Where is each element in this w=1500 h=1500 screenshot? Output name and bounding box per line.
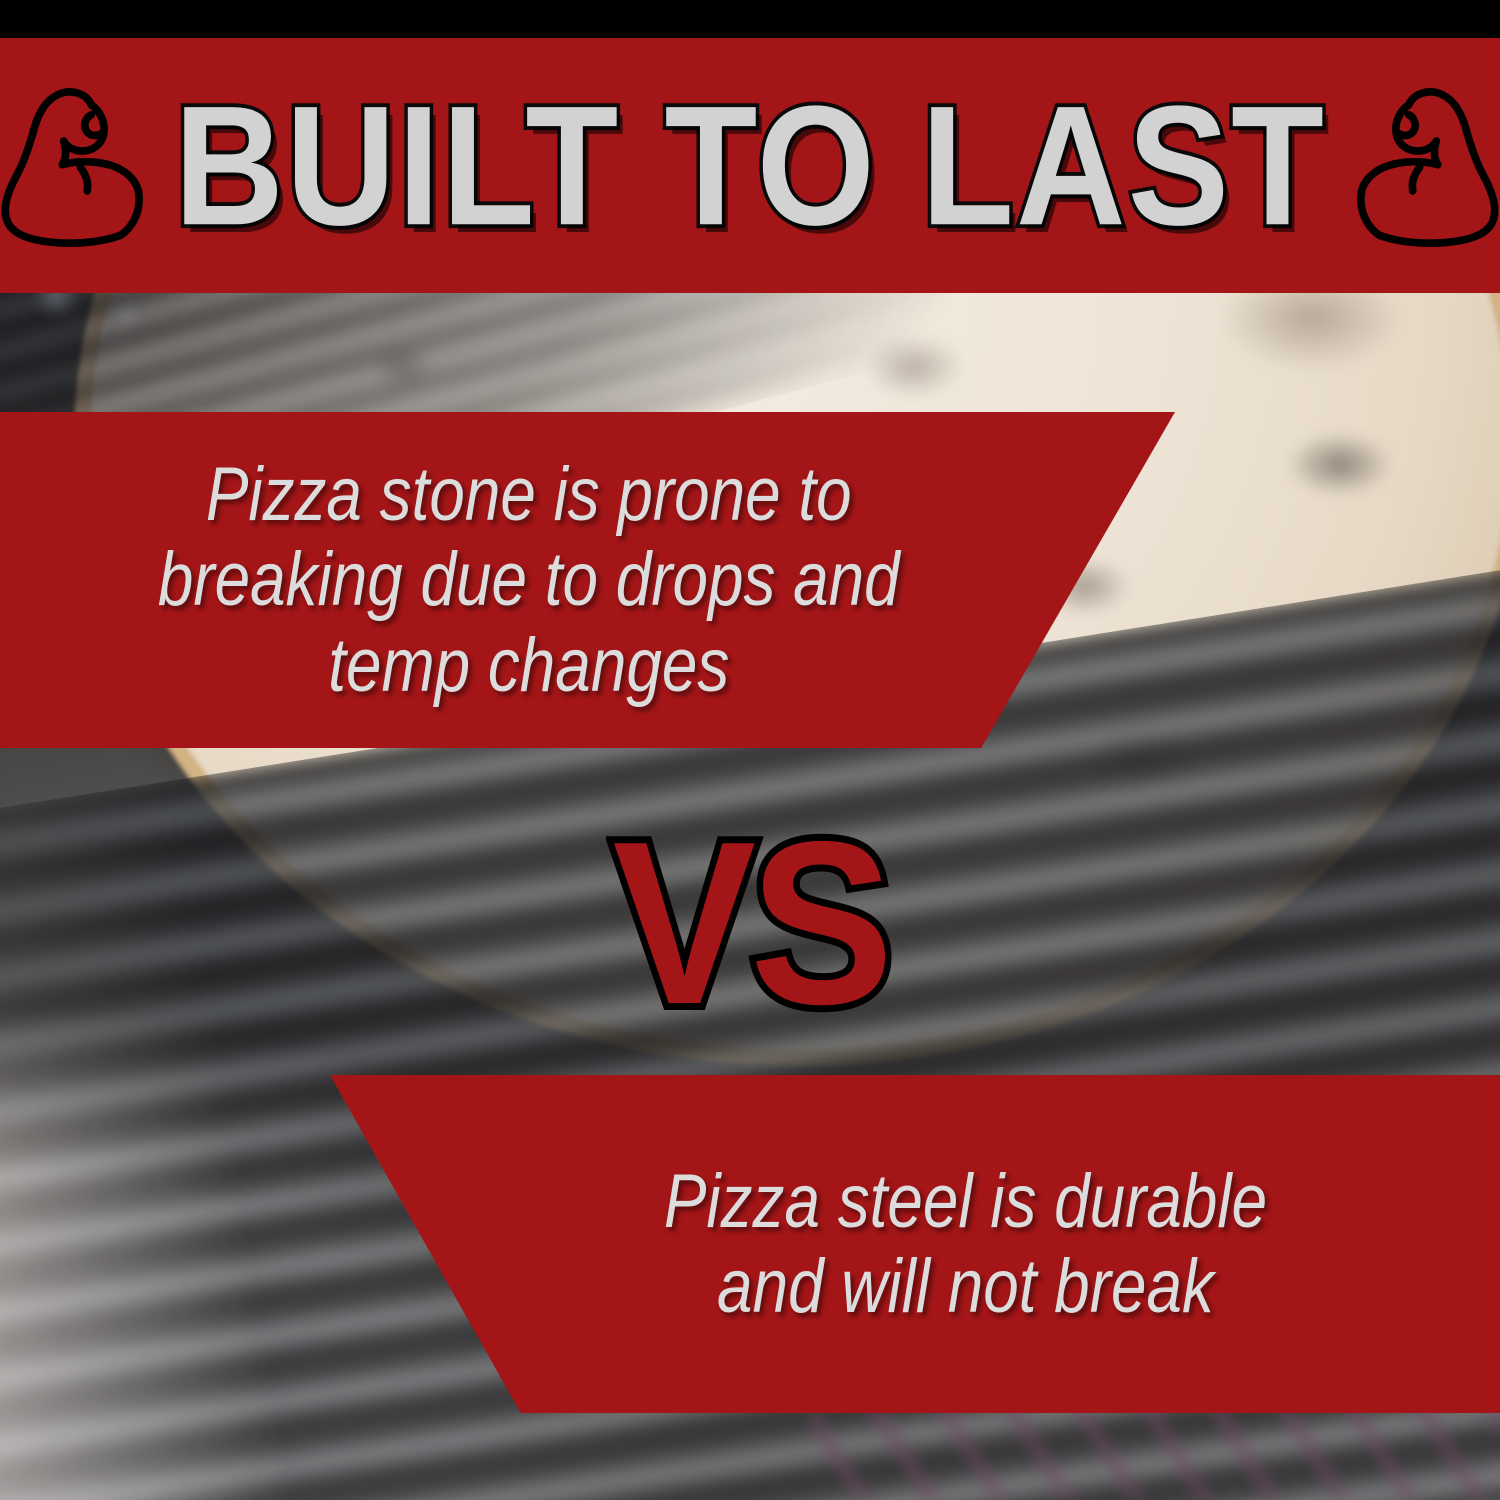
top-black-bar [0,0,1500,38]
page-title: BUILT TO LAST [174,80,1326,250]
versus-label: VS [0,806,1500,1038]
flexed-bicep-icon [1344,80,1500,252]
pizza-steel-callout-text: Pizza steel is durable and will not brea… [538,1159,1292,1329]
pizza-stone-callout-text: Pizza stone is prone to breaking due to … [133,452,1043,707]
flexed-bicep-icon [0,80,156,252]
header-banner: BUILT TO LAST [0,38,1500,293]
pizza-steel-callout-banner: Pizza steel is durable and will not brea… [330,1075,1500,1413]
product-comparison-poster: BUILT TO LAST Pizza stone is prone to br… [0,0,1500,1500]
pizza-stone-callout-banner: Pizza stone is prone to breaking due to … [0,412,1175,748]
